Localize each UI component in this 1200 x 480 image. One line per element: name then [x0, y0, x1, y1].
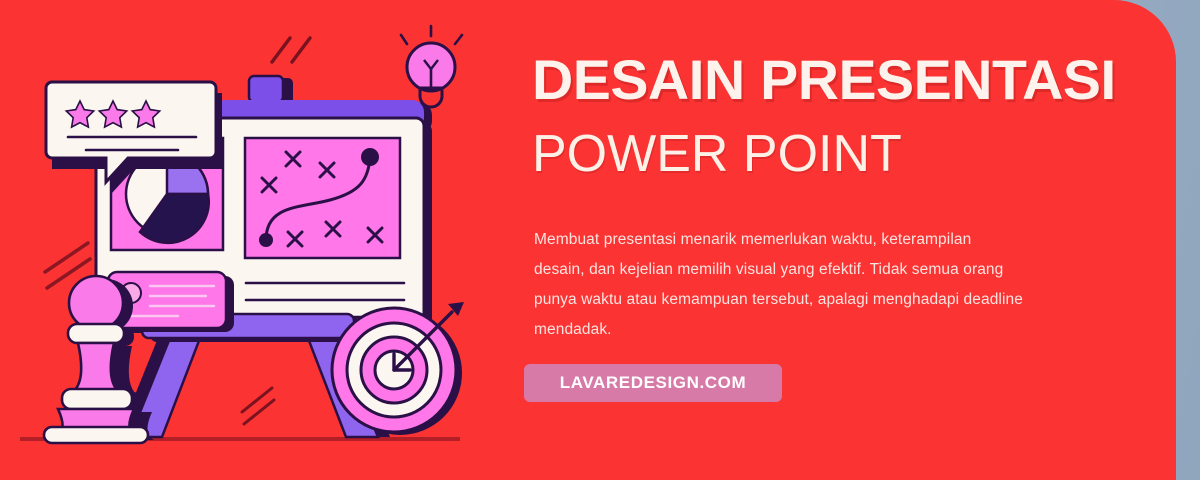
speed-lines-top-icon [272, 38, 310, 62]
lightbulb-icon [401, 26, 462, 107]
promo-banner: DESAIN PRESENTASI POWER POINT Membuat pr… [0, 0, 1200, 480]
page-title: DESAIN PRESENTASI [532, 52, 1116, 108]
website-cta-label: LAVAREDESIGN.COM [560, 373, 747, 393]
board-path-end-dot [361, 148, 379, 166]
text-content-block: DESAIN PRESENTASI POWER POINT Membuat pr… [532, 0, 1052, 480]
website-cta-button[interactable]: LAVAREDESIGN.COM [524, 364, 782, 402]
vertical-side-text: JASA DESAIN PRESENTASI [1134, 0, 1200, 480]
speed-lines-bottom-icon [242, 388, 274, 424]
strategy-board-panel [245, 138, 400, 258]
rating-stars-icon [66, 101, 159, 127]
description-paragraph: Membuat presentasi menarik memerlukan wa… [534, 225, 1026, 345]
page-subtitle: POWER POINT [532, 128, 902, 180]
presentation-easel-illustration [0, 0, 500, 480]
easel-cap [249, 76, 283, 102]
board-path-start-dot [259, 233, 273, 247]
